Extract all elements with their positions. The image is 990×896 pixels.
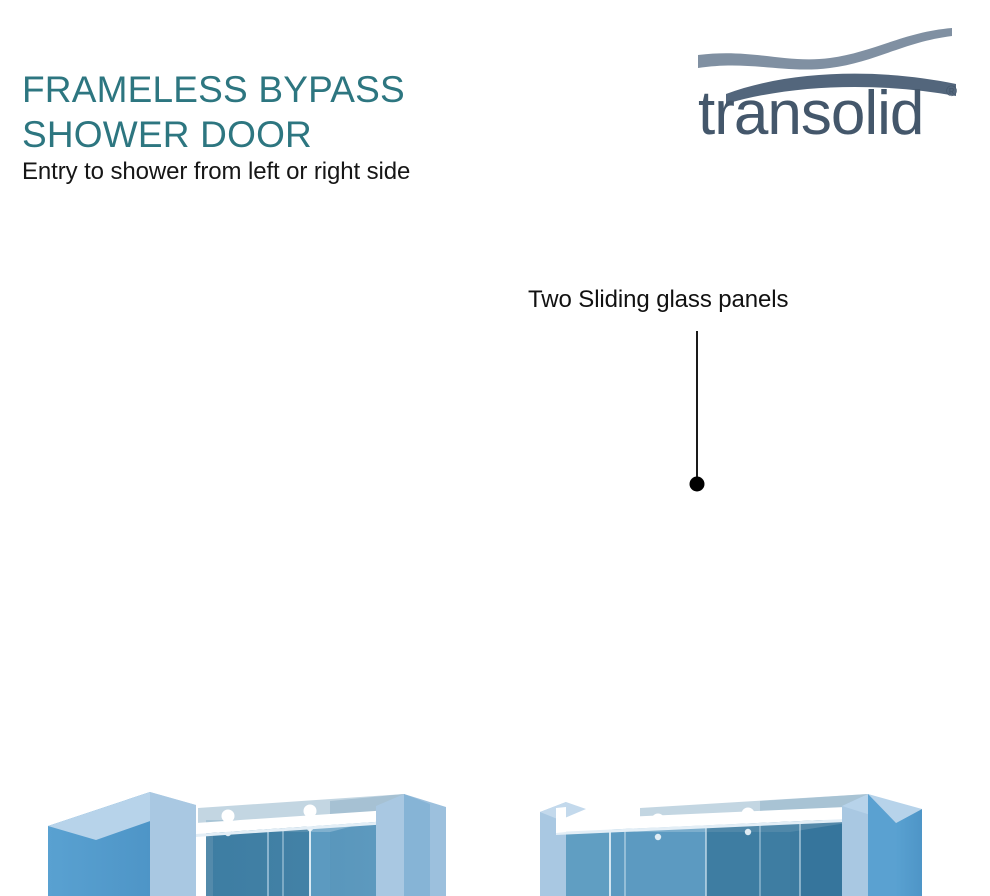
brand-wordmark: transolid — [698, 79, 923, 144]
r-roller-pin-2-icon — [745, 829, 751, 835]
shower-diagram-right — [540, 794, 922, 896]
callout-label-two-sliding-glass-panels: Two Sliding glass panels — [528, 285, 788, 315]
r-sliding-glass-panel-b — [706, 820, 800, 896]
page-title: FRAMELESS BYPASS SHOWER DOOR — [22, 67, 582, 157]
brand-logo: transolid ® — [690, 18, 968, 144]
r-top-rail-left-bracket — [556, 807, 566, 833]
shower-diagram-left — [48, 779, 500, 896]
header-block: FRAMELESS BYPASS SHOWER DOOR Entry to sh… — [0, 0, 990, 210]
page-subtitle: Entry to shower from left or right side — [22, 157, 410, 187]
r-open-entry-area — [566, 832, 610, 896]
right-pillar-front — [376, 794, 404, 896]
left-wall-front-post — [150, 792, 196, 896]
r-right-wall-outer-face — [896, 809, 922, 896]
shower-diagrams-area — [0, 380, 990, 896]
registered-trademark-icon: ® — [946, 83, 957, 100]
right-pillar-side — [404, 794, 430, 896]
r-roller-pin-1-icon — [655, 834, 661, 840]
